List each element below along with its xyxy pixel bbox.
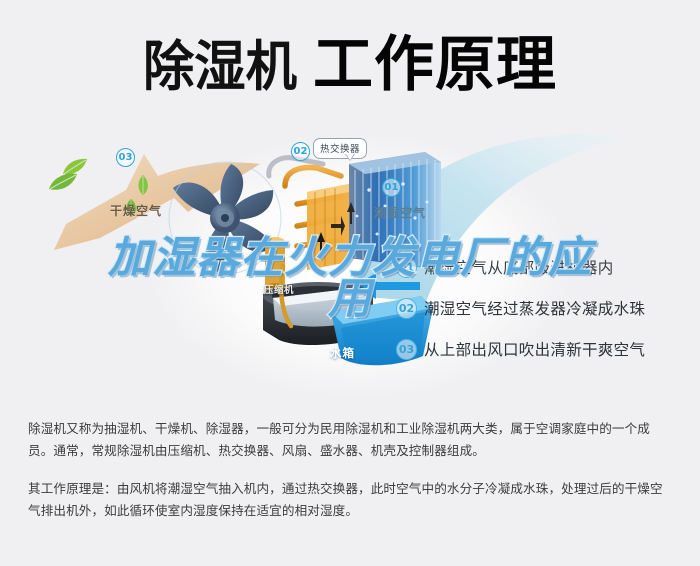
list-item: 03 从上部出风口吹出清新干爽空气: [396, 338, 696, 360]
title-part-2: 工作原理: [313, 16, 557, 103]
label-humid-air-number: 01: [382, 178, 401, 197]
step-text: 潮湿空气从底部吸进机器内: [424, 256, 614, 278]
label-compressor: 压缩机: [264, 282, 294, 296]
step-list: 01 潮湿空气从底部吸进机器内 02 潮湿空气经过蒸发器冷凝成水珠 03 从上部…: [396, 256, 696, 379]
body-text: 除湿机又称为抽湿机、干燥机、除湿器，一般可分为民用除湿机和工业除湿机两大类，属于…: [28, 418, 674, 538]
step-number: 01: [396, 257, 417, 278]
list-item: 02 潮湿空气经过蒸发器冷凝成水珠: [396, 297, 696, 319]
step-number: 02: [396, 298, 417, 319]
label-dry-air-number: 03: [116, 148, 135, 167]
label-heat-exchanger-bubble: 热交换器: [313, 138, 367, 159]
bubble-tail-inner-icon: [346, 154, 354, 160]
body-paragraph-2: 其工作原理是：由风机将潮湿空气抽入机内，通过热交换器，此时空气中的水分子冷凝成水…: [28, 478, 674, 522]
step-text: 潮湿空气经过蒸发器冷凝成水珠: [424, 297, 645, 319]
page-root: 除湿机 工作原理: [0, 0, 700, 566]
page-title: 除湿机 工作原理: [0, 0, 700, 118]
title-line: 除湿机 工作原理: [143, 16, 557, 103]
label-heat-exchanger-number: 02: [291, 142, 310, 161]
leaf-icon: [135, 174, 151, 196]
leaf-icon: [48, 172, 78, 192]
step-number: 03: [396, 339, 417, 360]
label-water-tank: 水箱: [330, 345, 355, 361]
title-part-1: 除湿机: [143, 22, 297, 101]
step-text: 从上部出风口吹出清新干爽空气: [424, 338, 645, 360]
label-dry-air-text: 干燥空气: [110, 202, 162, 219]
label-humid-air-text: 潮湿空气: [374, 204, 426, 221]
body-paragraph-1: 除湿机又称为抽湿机、干燥机、除湿器，一般可分为民用除湿机和工业除湿机两大类，属于…: [28, 418, 674, 462]
list-item: 01 潮湿空气从底部吸进机器内: [396, 256, 696, 278]
